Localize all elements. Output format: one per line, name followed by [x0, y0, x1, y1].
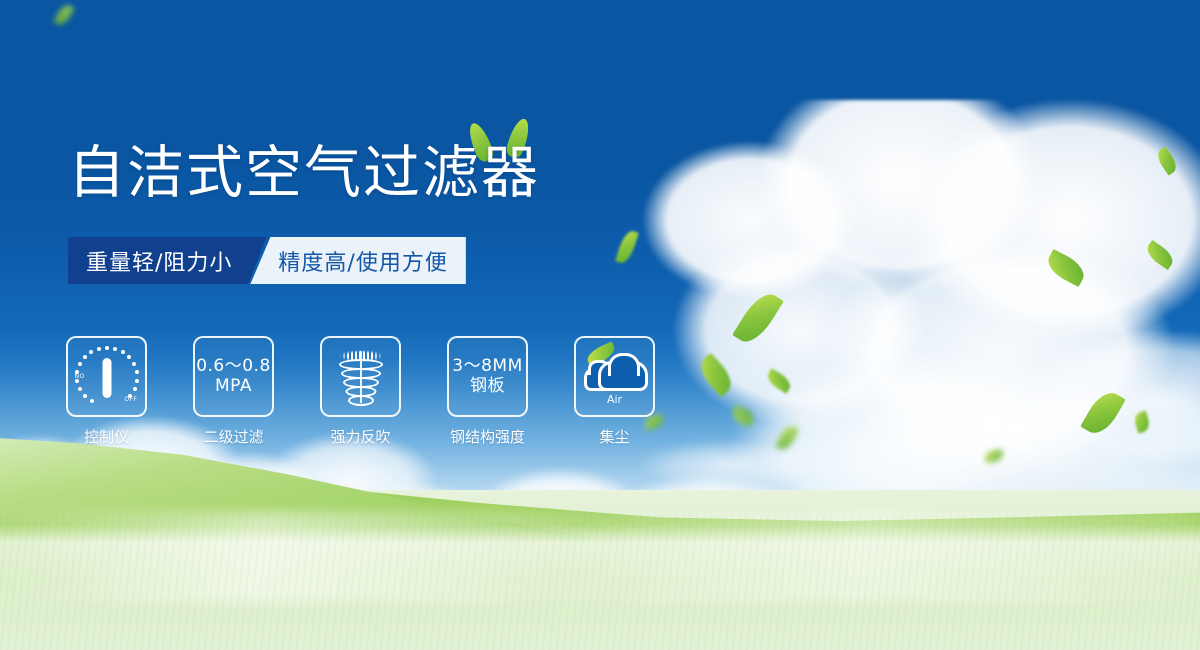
feature-text-line2: 钢板: [452, 377, 522, 396]
feature-item-steel-strength[interactable]: 3〜8MM 钢板 钢结构强度: [449, 336, 526, 447]
gauge-icon: NO OFF: [74, 346, 140, 408]
subtitle-right-segment: 精度高/使用方便: [250, 237, 465, 284]
feature-item-dust-collection[interactable]: Air 集尘: [576, 336, 653, 447]
leaf-icon: [54, 2, 75, 27]
feature-label: 控制仪: [84, 426, 129, 447]
grass-texture: [0, 515, 1200, 650]
blowback-rings-icon: [334, 349, 388, 405]
leaf-icon: [1154, 146, 1180, 175]
leaf-icon: [732, 287, 784, 348]
leaf-icon: [615, 229, 639, 266]
feature-label: 钢结构强度: [450, 426, 525, 447]
hero-banner: 自洁式空气过滤器 重量轻/阻力小 精度高/使用方便: [0, 0, 1200, 650]
feature-icon-box: [320, 336, 401, 417]
feature-icon-box: Air: [574, 336, 655, 417]
feature-icon-box: 0.6〜0.8 MPA: [193, 336, 274, 417]
leaf-icon: [775, 423, 799, 452]
feature-text-line2: MPA: [196, 377, 271, 396]
leaf-icon: [1132, 410, 1151, 433]
feature-label: 强力反吹: [330, 426, 390, 447]
grass-far-ridge: [0, 455, 1200, 575]
leaf-icon: [694, 353, 737, 397]
gauge-label-no: NO: [75, 373, 85, 380]
leaf-icon: [1080, 387, 1126, 440]
feature-list: NO OFF 控制仪 0.6〜0.8 MPA 二级过滤: [68, 336, 653, 447]
feature-icon-box: NO OFF: [66, 336, 147, 417]
grass-foreground: [0, 525, 1200, 650]
cloud-large-top: [608, 353, 640, 376]
leaf-icon: [984, 449, 1003, 463]
gauge-label-off: OFF: [124, 396, 137, 403]
leaf-icon: [1043, 249, 1089, 287]
subtitle-ribbon: 重量轻/阻力小 精度高/使用方便: [68, 237, 466, 284]
feature-label: 集尘: [599, 426, 629, 447]
feature-item-two-stage-filter[interactable]: 0.6〜0.8 MPA 二级过滤: [195, 336, 272, 447]
cloud-large-right: [600, 100, 1200, 530]
steel-plate-text-icon: 3〜8MM 钢板: [452, 357, 522, 395]
pressure-text-icon: 0.6〜0.8 MPA: [196, 357, 271, 395]
page-title: 自洁式空气过滤器: [68, 145, 540, 202]
leaf-icon: [1143, 240, 1177, 270]
feature-icon-box: 3〜8MM 钢板: [447, 336, 528, 417]
feature-item-blowback[interactable]: 强力反吹: [322, 336, 399, 447]
feature-text-line1: 0.6〜0.8: [196, 357, 271, 376]
grass-field: [0, 490, 1200, 650]
grass-path-highlight: [0, 512, 1200, 602]
feature-item-controller[interactable]: NO OFF 控制仪: [68, 336, 145, 447]
feature-label: 二级过滤: [203, 426, 263, 447]
leaf-icon: [730, 405, 756, 428]
air-cloud-icon: Air: [584, 349, 646, 405]
grass-hill-left: [0, 425, 760, 590]
cloud-wisp-right: [900, 430, 1200, 570]
air-label: Air: [584, 393, 646, 406]
feature-text-line1: 3〜8MM: [452, 357, 522, 376]
gauge-needle: [102, 358, 111, 398]
cloud-wisp-center: [620, 420, 860, 510]
cloud-bank-center: [330, 445, 890, 615]
leaf-icon: [764, 368, 793, 394]
cloud-right-lower: [740, 330, 1200, 590]
subtitle-left-segment: 重量轻/阻力小: [68, 237, 266, 284]
